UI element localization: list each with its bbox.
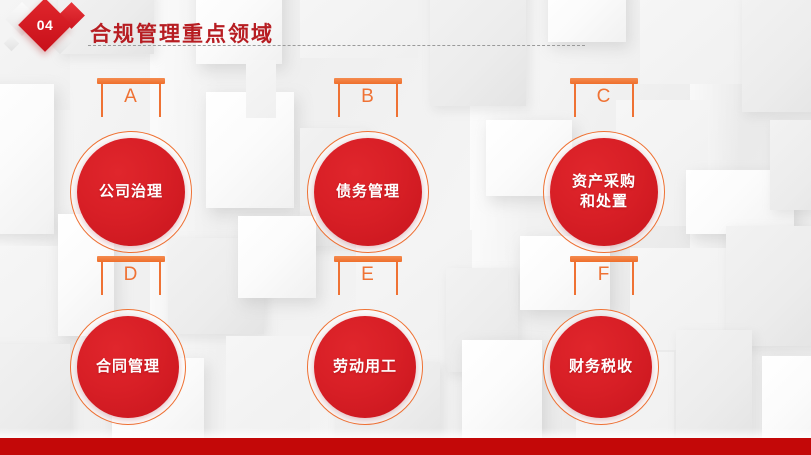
focus-area-ring: 债务管理: [307, 131, 429, 253]
flask-cap-bar: [334, 256, 402, 262]
section-number-badge: 04: [4, 0, 90, 60]
focus-area-letter: D: [61, 264, 201, 286]
title-divider: [88, 45, 585, 46]
focus-area-ring: 财务税收: [543, 309, 659, 425]
focus-area-letter: E: [298, 264, 438, 286]
focus-area-letter: F: [534, 264, 674, 286]
focus-area-label: 财务税收: [569, 357, 633, 377]
focus-area-ring: 资产采购和处置: [543, 131, 665, 253]
focus-area-circle: 劳动用工: [314, 316, 416, 418]
focus-area-label: 债务管理: [336, 182, 400, 202]
focus-area-label: 公司治理: [99, 182, 163, 202]
focus-area-circle: 资产采购和处置: [550, 138, 658, 246]
flask-cap-bar: [570, 78, 638, 84]
focus-area-ring: 劳动用工: [307, 309, 423, 425]
footer-gradient: [0, 428, 811, 438]
slide-header: 04 合规管理重点领域: [0, 0, 811, 60]
focus-area-ring: 公司治理: [70, 131, 192, 253]
flask-cap-bar: [97, 78, 165, 84]
focus-area-circle: 公司治理: [77, 138, 185, 246]
page-title: 合规管理重点领域: [90, 18, 274, 48]
footer-bar: [0, 438, 811, 455]
focus-area-ring: 合同管理: [70, 309, 186, 425]
focus-area-circle: 财务税收: [550, 316, 652, 418]
focus-area-letter: A: [61, 86, 201, 108]
section-number-text: 04: [26, 6, 64, 44]
focus-area-circle: 合同管理: [77, 316, 179, 418]
slide-canvas: 04 合规管理重点领域 A公司治理B债务管理C资产采购和处置D合同管理E劳动用工…: [0, 0, 811, 455]
focus-area-label: 资产采购和处置: [572, 172, 636, 212]
flask-cap-bar: [97, 256, 165, 262]
focus-area-label: 劳动用工: [333, 357, 397, 377]
focus-area-label: 合同管理: [96, 357, 160, 377]
diamond-gray-icon: [4, 36, 20, 52]
focus-area-circle: 债务管理: [314, 138, 422, 246]
focus-area-letter: B: [298, 86, 438, 108]
focus-area-letter: C: [534, 86, 674, 108]
flask-cap-bar: [334, 78, 402, 84]
flask-cap-bar: [570, 256, 638, 262]
